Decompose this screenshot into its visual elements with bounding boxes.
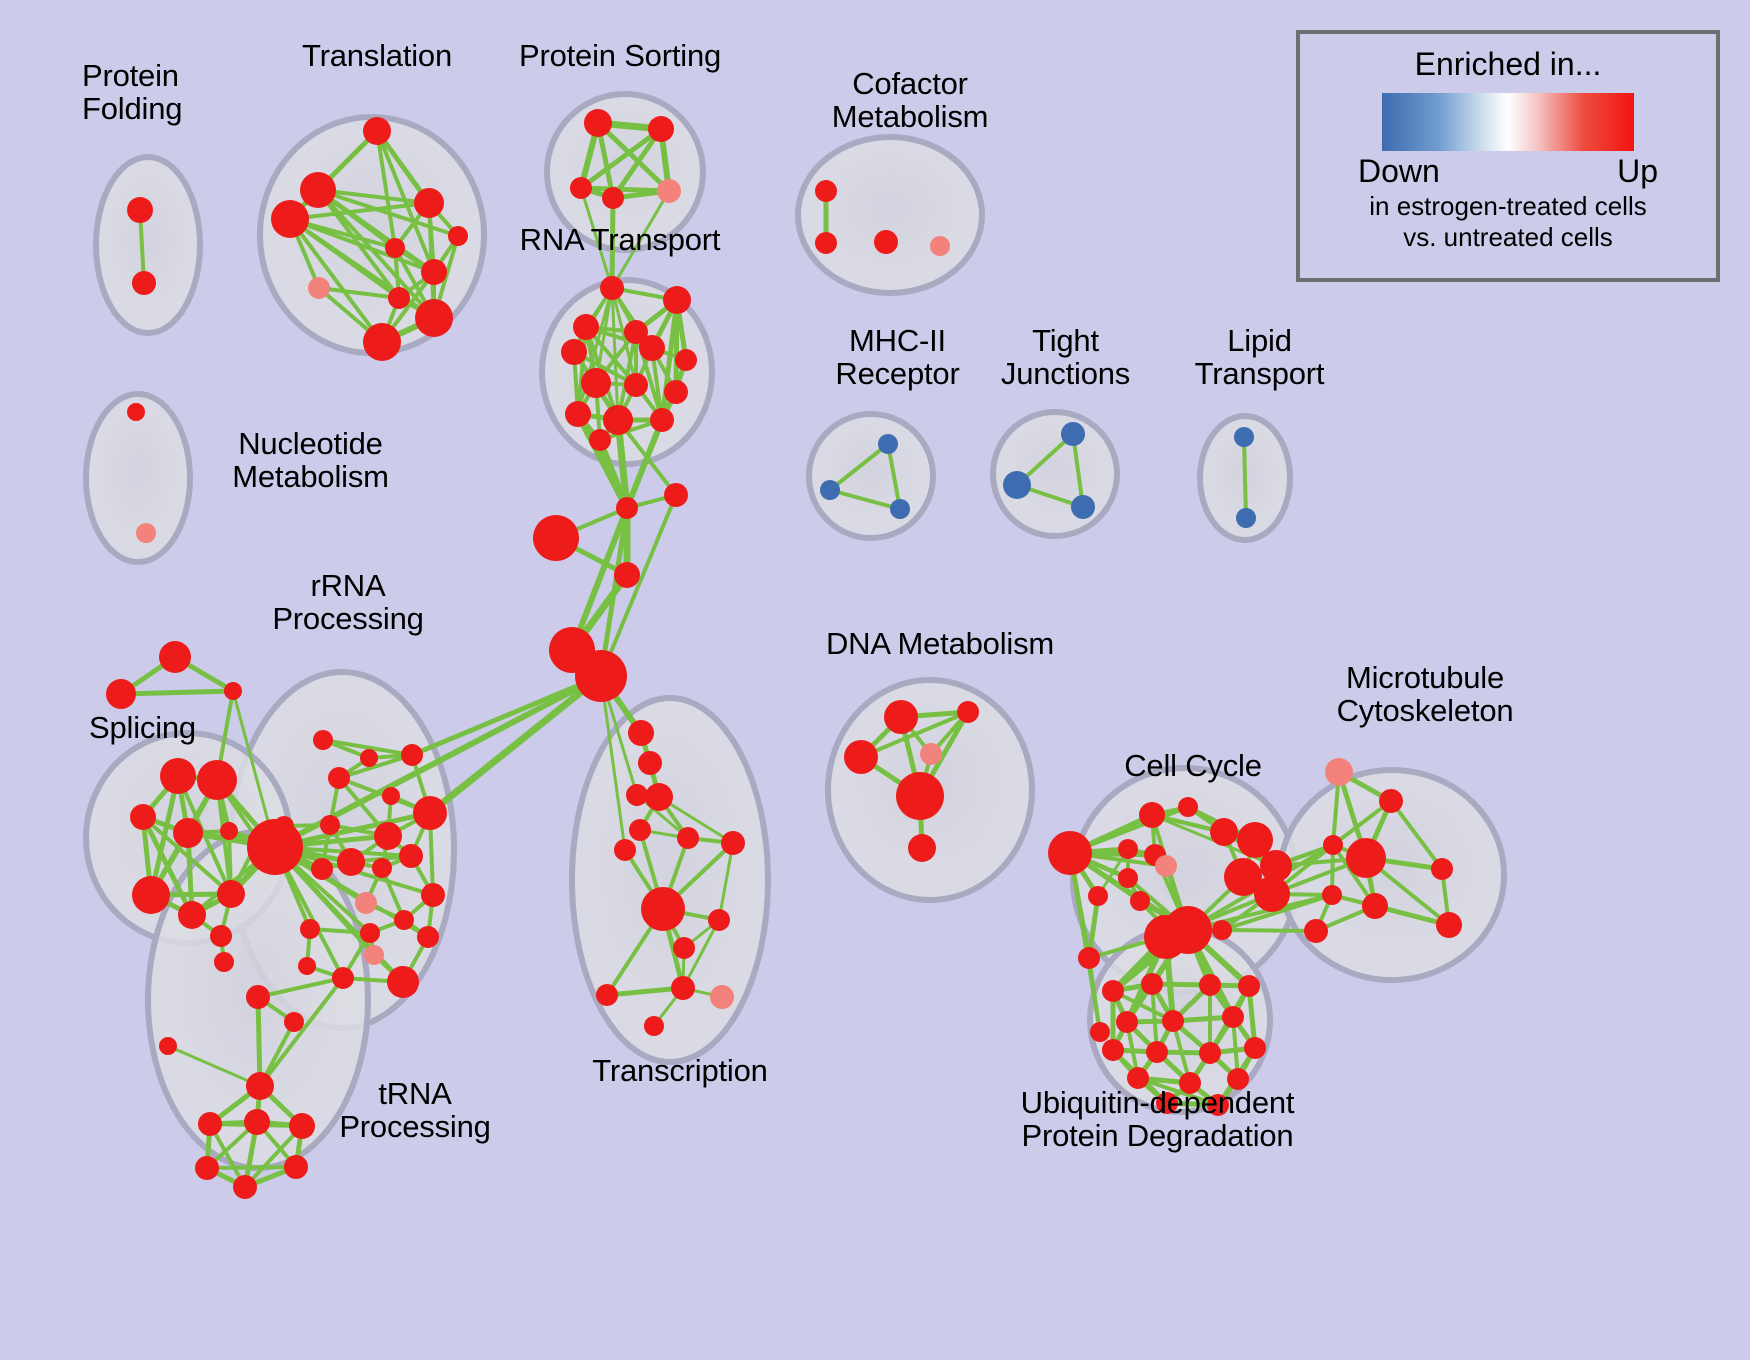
network-node[interactable] <box>908 834 936 862</box>
network-node[interactable] <box>663 286 691 314</box>
network-node[interactable] <box>1178 797 1198 817</box>
network-node[interactable] <box>675 349 697 371</box>
network-node[interactable] <box>874 230 898 254</box>
network-node[interactable] <box>197 760 237 800</box>
network-node[interactable] <box>896 772 944 820</box>
network-node[interactable] <box>355 892 377 914</box>
network-node[interactable] <box>1362 893 1388 919</box>
network-node[interactable] <box>1236 508 1256 528</box>
network-node[interactable] <box>246 1072 274 1100</box>
cluster-label-protein-folding: Protein Folding <box>82 60 292 126</box>
network-node[interactable] <box>1346 838 1386 878</box>
network-node[interactable] <box>1304 919 1328 943</box>
network-node[interactable] <box>372 858 392 878</box>
network-node[interactable] <box>616 497 638 519</box>
cluster-label-rrna: rRNA Processing <box>238 570 458 636</box>
network-node[interactable] <box>127 403 145 421</box>
network-node[interactable] <box>644 1016 664 1036</box>
cluster-ellipse <box>809 414 933 538</box>
network-node[interactable] <box>573 314 599 340</box>
network-node[interactable] <box>1116 1011 1138 1033</box>
network-node[interactable] <box>385 238 405 258</box>
network-node[interactable] <box>721 831 745 855</box>
network-node[interactable] <box>890 499 910 519</box>
cluster-label-transcription: Transcription <box>565 1055 795 1088</box>
cluster-label-mhc-ii: MHC-II Receptor <box>795 325 1000 391</box>
network-node[interactable] <box>878 434 898 454</box>
network-node[interactable] <box>300 919 320 939</box>
network-node[interactable] <box>363 117 391 145</box>
network-node[interactable] <box>337 848 365 876</box>
cluster-label-dna-metabolism: DNA Metabolism <box>810 628 1070 661</box>
network-node[interactable] <box>614 562 640 588</box>
cluster-label-tight-junctions: Tight Junctions <box>978 325 1153 391</box>
cluster-label-protein-sorting: Protein Sorting <box>500 40 740 73</box>
network-node[interactable] <box>1102 980 1124 1002</box>
network-node[interactable] <box>708 909 730 931</box>
network-node[interactable] <box>664 483 688 507</box>
network-node[interactable] <box>626 784 648 806</box>
cluster-label-microtubule: Microtubule Cytoskeleton <box>1300 662 1550 728</box>
network-node[interactable] <box>638 751 662 775</box>
cluster-label-lipid-transport: Lipid Transport <box>1162 325 1357 391</box>
network-node[interactable] <box>930 236 950 256</box>
network-node[interactable] <box>600 276 624 300</box>
legend-caption-line1: in estrogen-treated cells <box>1300 192 1716 221</box>
network-node[interactable] <box>1061 422 1085 446</box>
cluster-label-splicing: Splicing <box>60 712 225 745</box>
network-node[interactable] <box>844 740 878 774</box>
network-node[interactable] <box>374 822 402 850</box>
network-node[interactable] <box>657 179 681 203</box>
network-node[interactable] <box>677 827 699 849</box>
legend-panel: Enriched in... Down Up in estrogen-treat… <box>1296 30 1720 282</box>
network-node[interactable] <box>1102 1039 1124 1061</box>
network-node[interactable] <box>1078 947 1100 969</box>
network-node[interactable] <box>820 480 840 500</box>
network-node[interactable] <box>233 1175 257 1199</box>
network-node[interactable] <box>639 335 665 361</box>
network-node[interactable] <box>614 839 636 861</box>
network-node[interactable] <box>884 700 918 734</box>
network-node[interactable] <box>664 380 688 404</box>
network-node[interactable] <box>159 1037 177 1055</box>
cluster-label-rna-transport: RNA Transport <box>500 224 740 257</box>
legend-high-label: Up <box>1617 153 1658 190</box>
network-node[interactable] <box>399 844 423 868</box>
network-node[interactable] <box>313 730 333 750</box>
network-node[interactable] <box>673 937 695 959</box>
network-node[interactable] <box>417 926 439 948</box>
network-node[interactable] <box>570 177 592 199</box>
network-node[interactable] <box>246 985 270 1009</box>
network-node[interactable] <box>1234 427 1254 447</box>
network-node[interactable] <box>1088 886 1108 906</box>
network-node[interactable] <box>1210 818 1238 846</box>
network-node[interactable] <box>421 259 447 285</box>
network-node[interactable] <box>575 650 627 702</box>
network-edge <box>207 1167 296 1168</box>
network-node[interactable] <box>584 109 612 137</box>
network-node[interactable] <box>300 172 336 208</box>
network-node[interactable] <box>1436 912 1462 938</box>
network-node[interactable] <box>957 701 979 723</box>
network-node[interactable] <box>1144 915 1188 959</box>
network-node[interactable] <box>1199 974 1221 996</box>
network-node[interactable] <box>1146 1041 1168 1063</box>
network-node[interactable] <box>645 783 673 811</box>
network-node[interactable] <box>1130 891 1150 911</box>
network-node[interactable] <box>271 200 309 238</box>
network-node[interactable] <box>415 299 453 337</box>
network-node[interactable] <box>244 1109 270 1135</box>
network-node[interactable] <box>1090 1022 1110 1042</box>
network-node[interactable] <box>589 429 611 451</box>
network-node[interactable] <box>224 682 242 700</box>
network-node[interactable] <box>1322 885 1342 905</box>
network-node[interactable] <box>596 984 618 1006</box>
network-node[interactable] <box>1162 1010 1184 1032</box>
network-node[interactable] <box>1139 802 1165 828</box>
network-node[interactable] <box>1379 789 1403 813</box>
network-node[interactable] <box>603 405 633 435</box>
network-node[interactable] <box>1431 858 1453 880</box>
network-node[interactable] <box>332 967 354 989</box>
network-node[interactable] <box>130 804 156 830</box>
network-node[interactable] <box>394 910 414 930</box>
network-node[interactable] <box>561 339 587 365</box>
network-node[interactable] <box>298 957 316 975</box>
network-edge <box>121 691 233 694</box>
network-node[interactable] <box>671 976 695 1000</box>
network-edge <box>1244 437 1246 518</box>
network-node[interactable] <box>1003 471 1031 499</box>
network-node[interactable] <box>106 679 136 709</box>
network-node[interactable] <box>1244 1037 1266 1059</box>
network-node[interactable] <box>195 1156 219 1180</box>
network-node[interactable] <box>1323 835 1343 855</box>
network-node[interactable] <box>360 749 378 767</box>
legend-caption-line2: vs. untreated cells <box>1300 223 1716 252</box>
network-node[interactable] <box>311 858 333 880</box>
network-node[interactable] <box>214 952 234 972</box>
cluster-label-translation: Translation <box>272 40 482 73</box>
network-node[interactable] <box>581 368 611 398</box>
legend-title: Enriched in... <box>1300 46 1716 83</box>
network-node[interactable] <box>178 901 206 929</box>
network-node[interactable] <box>920 743 942 765</box>
network-node[interactable] <box>448 226 468 246</box>
network-node[interactable] <box>1155 855 1177 877</box>
cluster-label-trna: tRNA Processing <box>300 1078 530 1144</box>
network-node[interactable] <box>220 822 238 840</box>
network-node[interactable] <box>1071 495 1095 519</box>
network-node[interactable] <box>1118 868 1138 888</box>
network-node[interactable] <box>648 116 674 142</box>
network-node[interactable] <box>414 188 444 218</box>
network-node[interactable] <box>628 720 654 746</box>
network-node[interactable] <box>1141 973 1163 995</box>
legend-endpoints: Down Up <box>1358 153 1658 190</box>
legend-low-label: Down <box>1358 153 1440 190</box>
network-node[interactable] <box>136 523 156 543</box>
network-node[interactable] <box>382 787 400 805</box>
cluster-label-nucleotide: Nucleotide Metabolism <box>198 428 423 494</box>
network-node[interactable] <box>284 1012 304 1032</box>
network-node[interactable] <box>388 287 410 309</box>
network-node[interactable] <box>320 815 340 835</box>
network-node[interactable] <box>629 819 651 841</box>
network-node[interactable] <box>1254 876 1290 912</box>
network-node[interactable] <box>413 796 447 830</box>
cluster-label-cofactor: Cofactor Metabolism <box>795 68 1025 134</box>
cluster-ellipse <box>96 157 200 333</box>
network-node[interactable] <box>132 271 156 295</box>
network-edge <box>430 676 601 813</box>
network-node[interactable] <box>1222 1006 1244 1028</box>
network-node[interactable] <box>217 880 245 908</box>
network-node[interactable] <box>210 925 232 947</box>
network-node[interactable] <box>127 197 153 223</box>
network-node[interactable] <box>1325 758 1353 786</box>
network-node[interactable] <box>363 323 401 361</box>
network-node[interactable] <box>815 180 837 202</box>
network-node[interactable] <box>284 1155 308 1179</box>
network-node[interactable] <box>1048 831 1092 875</box>
network-node[interactable] <box>421 883 445 907</box>
network-figure: Protein FoldingTranslationProtein Sortin… <box>0 0 1750 1360</box>
cluster-label-ubiquitin: Ubiquitin-dependent Protein Degradation <box>985 1087 1330 1153</box>
network-node[interactable] <box>624 373 648 397</box>
network-node[interactable] <box>1212 920 1232 940</box>
network-node[interactable] <box>401 744 423 766</box>
network-node[interactable] <box>387 966 419 998</box>
network-edge <box>1222 930 1316 931</box>
network-node[interactable] <box>641 887 685 931</box>
legend-gradient-wrap <box>1382 93 1634 151</box>
network-node[interactable] <box>247 819 303 875</box>
cluster-label-cell-cycle: Cell Cycle <box>1098 750 1288 783</box>
network-node[interactable] <box>364 945 384 965</box>
network-node[interactable] <box>132 876 170 914</box>
network-node[interactable] <box>198 1112 222 1136</box>
network-node[interactable] <box>650 408 674 432</box>
network-node[interactable] <box>308 277 330 299</box>
network-node[interactable] <box>815 232 837 254</box>
network-node[interactable] <box>1199 1042 1221 1064</box>
network-node[interactable] <box>533 515 579 561</box>
color-scale-gradient <box>1382 93 1634 151</box>
network-node[interactable] <box>602 187 624 209</box>
network-node[interactable] <box>1238 975 1260 997</box>
network-node[interactable] <box>159 641 191 673</box>
network-node[interactable] <box>1118 839 1138 859</box>
network-node[interactable] <box>160 758 196 794</box>
network-edge <box>601 495 676 676</box>
network-node[interactable] <box>565 401 591 427</box>
network-node[interactable] <box>710 985 734 1009</box>
network-node[interactable] <box>173 818 203 848</box>
network-node[interactable] <box>328 767 350 789</box>
network-node[interactable] <box>360 923 380 943</box>
